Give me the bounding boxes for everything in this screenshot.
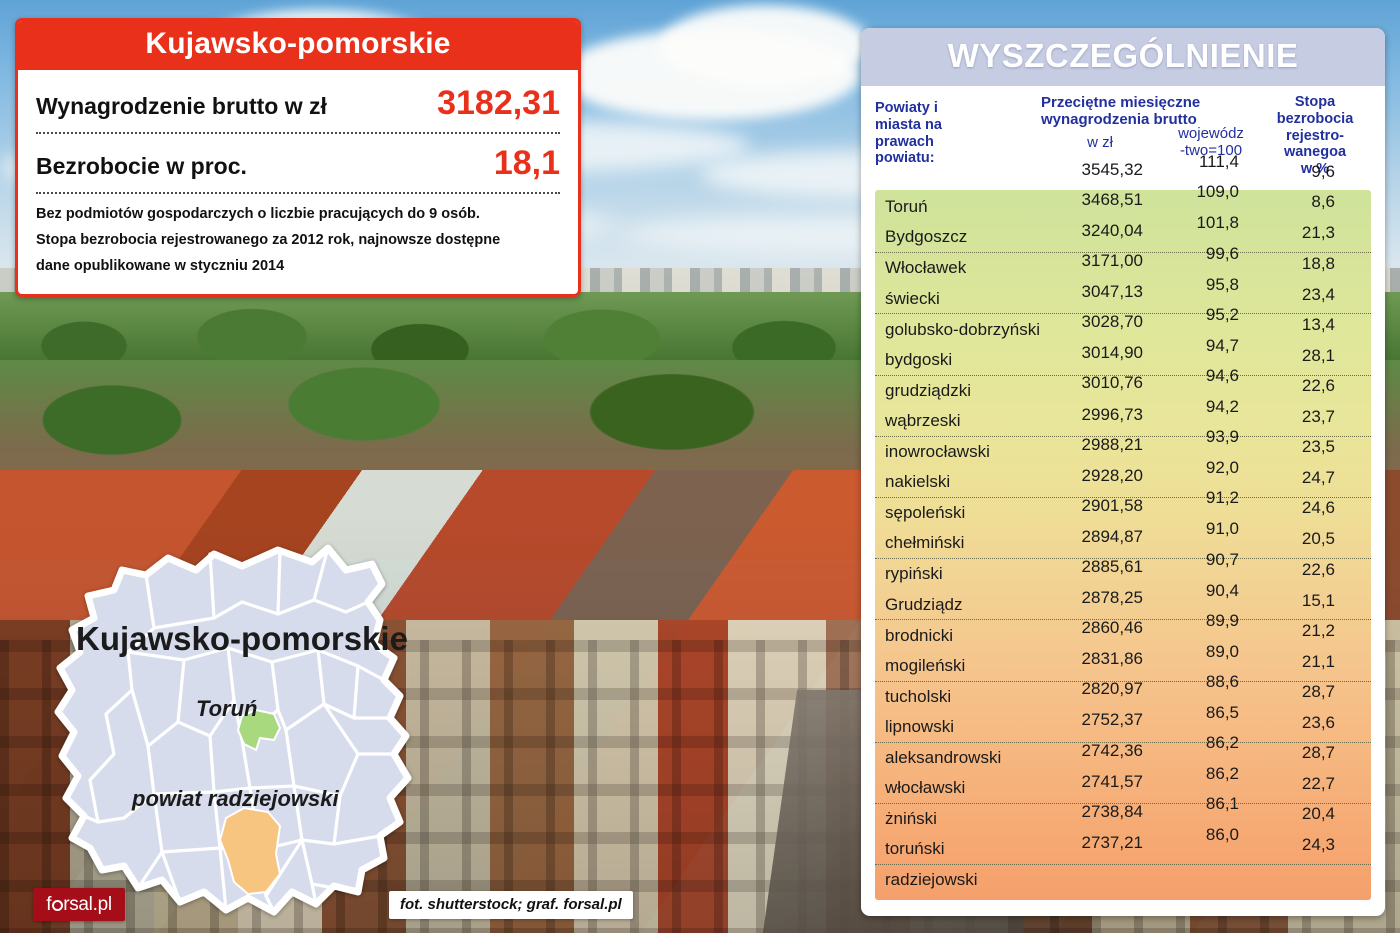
note-line: Stopa bezrobocia rejestrowanego za 2012 … [36, 230, 560, 251]
cell-county: Toruń [875, 197, 1041, 217]
stat-label-salary: Wynagrodzenie brutto w zł [36, 93, 327, 120]
cell-county: rypiński [875, 564, 1041, 584]
region-title: Kujawsko-pomorskie [18, 21, 578, 70]
cell-county: lipnowski [875, 717, 1041, 737]
stat-row-unemployment: Bezrobocie w proc. 18,1 [34, 134, 562, 192]
table-body: Toruń3545,32111,49,6Bydgoszcz3468,51109,… [875, 190, 1371, 900]
logo-o-icon [52, 900, 63, 911]
table-row: radziejowski2737,2186,024,3 [875, 865, 1371, 896]
cell-county: Grudziądz [875, 595, 1041, 615]
cell-county: mogileński [875, 656, 1041, 676]
cell-county: nakielski [875, 472, 1041, 492]
cell-county: wąbrzeski [875, 411, 1041, 431]
cell-county: golubsko-dobrzyński [875, 320, 1041, 340]
cell-county: toruński [875, 839, 1041, 859]
cell-county: aleksandrowski [875, 748, 1041, 768]
cell-index: 86,0 [1159, 825, 1263, 916]
cell-county: sępoleński [875, 503, 1041, 523]
cell-county: chełmiński [875, 533, 1041, 553]
photo-credit: fot. shutterstock; graf. forsal.pl [389, 891, 633, 919]
cell-county: radziejowski [875, 870, 1041, 890]
forsal-logo-text: frsal.pl [46, 895, 112, 914]
forsal-logo[interactable]: frsal.pl [33, 888, 125, 921]
cell-county: Bydgoszcz [875, 227, 1041, 247]
stat-row-salary: Wynagrodzenie brutto w zł 3182,31 [34, 74, 562, 132]
map-city-label: Toruń [196, 696, 258, 722]
note-line: Bez podmiotów gospodarczych o liczbie pr… [36, 204, 560, 225]
stat-label-unemployment: Bezrobocie w proc. [36, 153, 247, 180]
region-summary-body: Wynagrodzenie brutto w zł 3182,31 Bezrob… [18, 70, 578, 294]
data-table-panel: WYSZCZEGÓLNIENIE Powiaty imiasta naprawa… [861, 28, 1385, 916]
region-summary-card: Kujawsko-pomorskie Wynagrodzenie brutto … [15, 18, 581, 297]
cell-county: tucholski [875, 687, 1041, 707]
note-line: dane opublikowane w styczniu 2014 [36, 256, 560, 277]
cell-county: świecki [875, 289, 1041, 309]
map-county-label: powiat radziejowski [132, 786, 339, 812]
infographic-root: Kujawsko-pomorskie Wynagrodzenie brutto … [0, 0, 1400, 933]
cell-unemployment: 24,3 [1263, 835, 1367, 916]
stat-value-salary: 3182,31 [437, 84, 560, 123]
cell-county: bydgoski [875, 350, 1041, 370]
stat-value-unemployment: 18,1 [494, 144, 560, 183]
cell-county: Włocławek [875, 258, 1041, 278]
table-panel-title: WYSZCZEGÓLNIENIE [861, 28, 1385, 86]
cell-county: włocławski [875, 778, 1041, 798]
region-map: Kujawsko-pomorskie Toruń powiat radziejo… [28, 540, 458, 925]
th-county: Powiaty imiasta naprawachpowiatu: [875, 94, 1041, 184]
th-unit-index: wojewódz-two=100 [1159, 125, 1263, 160]
methodology-note: Bez podmiotów gospodarczych o liczbie pr… [34, 194, 562, 284]
cell-county: inowrocławski [875, 442, 1041, 462]
cell-salary-pln: 2737,21 [1041, 833, 1159, 916]
th-salary-group: Przeciętne miesięcznewynagrodzenia brutt… [1041, 94, 1263, 166]
map-svg [28, 540, 458, 925]
cell-county: żniński [875, 809, 1041, 829]
cell-county: brodnicki [875, 626, 1041, 646]
th-unit-pln: w zł [1041, 134, 1159, 151]
cell-county: grudziądzki [875, 381, 1041, 401]
th-salary-group-label: Przeciętne miesięcznewynagrodzenia brutt… [1041, 94, 1263, 129]
map-region-label: Kujawsko-pomorskie [76, 620, 476, 658]
